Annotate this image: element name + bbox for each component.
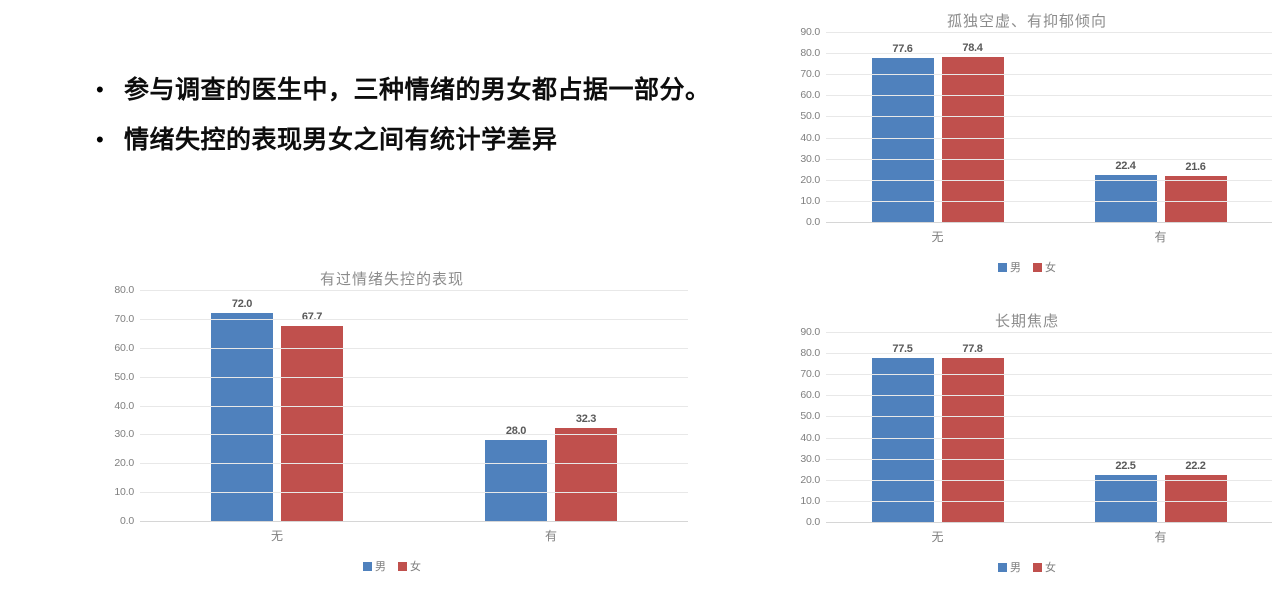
bar-value-label: 21.6 (1185, 161, 1205, 173)
bar-男-无[interactable]: 72.0 (211, 313, 273, 521)
bar-value-label: 22.2 (1185, 460, 1205, 472)
gridline (140, 463, 688, 464)
x-axis-label: 有 (414, 527, 688, 544)
plot-area: 0.010.020.030.040.050.060.070.080.090.0 … (782, 332, 1272, 522)
bar-slot: 22.2 (1165, 332, 1227, 522)
legend-label: 女 (1045, 259, 1056, 275)
legend-swatch-icon (363, 562, 372, 571)
chart-title: 孤独空虚、有抑郁倾向 (782, 10, 1272, 32)
chart-title: 有过情绪失控的表现 (96, 268, 688, 290)
chart-title: 长期焦虑 (782, 310, 1272, 332)
legend-label: 男 (1010, 259, 1021, 275)
y-axis-tick: 90.0 (800, 326, 820, 338)
y-axis: 0.010.020.030.040.050.060.070.080.0 (96, 290, 140, 521)
gridline (826, 32, 1272, 33)
legend: 男女 (96, 558, 688, 574)
gridline (140, 348, 688, 349)
y-axis-tick: 30.0 (800, 453, 820, 465)
x-axis: 无有 (140, 527, 688, 544)
x-axis-label: 无 (826, 528, 1049, 545)
legend-item-男[interactable]: 男 (998, 259, 1021, 275)
gridline (826, 180, 1272, 181)
gridline (826, 116, 1272, 117)
bullet-list: • 参与调查的医生中，三种情绪的男女都占据一部分。 • 情绪失控的表现男女之间有… (96, 68, 716, 168)
bar-value-label: 22.4 (1115, 160, 1135, 172)
y-axis-tick: 80.0 (800, 47, 820, 59)
y-axis-tick: 50.0 (114, 371, 134, 383)
bar-value-label: 72.0 (232, 298, 252, 310)
legend-swatch-icon (1033, 563, 1042, 572)
plot-area: 0.010.020.030.040.050.060.070.080.0 72.0… (96, 290, 688, 521)
bar-slot: 22.4 (1095, 32, 1157, 222)
gridline (140, 406, 688, 407)
y-axis-tick: 70.0 (800, 368, 820, 380)
y-axis-tick: 80.0 (114, 284, 134, 296)
bar-group: 77.678.4 (826, 32, 1049, 222)
gridline (826, 201, 1272, 202)
legend-item-女[interactable]: 女 (1033, 559, 1056, 575)
gridline (826, 480, 1272, 481)
y-axis: 0.010.020.030.040.050.060.070.080.090.0 (782, 332, 826, 522)
y-axis-tick: 0.0 (120, 515, 134, 527)
legend-item-男[interactable]: 男 (363, 558, 386, 574)
legend-swatch-icon (998, 263, 1007, 272)
y-axis: 0.010.020.030.040.050.060.070.080.090.0 (782, 32, 826, 222)
x-axis-label: 有 (1049, 228, 1272, 245)
y-axis-tick: 20.0 (800, 174, 820, 186)
legend-swatch-icon (398, 562, 407, 571)
gridline (826, 459, 1272, 460)
legend-swatch-icon (998, 563, 1007, 572)
y-axis-tick: 0.0 (806, 216, 820, 228)
y-axis-tick: 10.0 (800, 495, 820, 507)
bar-slot: 21.6 (1165, 32, 1227, 222)
bar-value-label: 32.3 (576, 413, 596, 425)
gridline (826, 159, 1272, 160)
x-axis-label: 无 (140, 527, 414, 544)
y-axis-tick: 30.0 (114, 428, 134, 440)
gridline (140, 434, 688, 435)
y-axis-tick: 50.0 (800, 410, 820, 422)
bar-slot: 78.4 (942, 32, 1004, 222)
x-axis: 无有 (826, 228, 1272, 245)
legend-label: 女 (410, 558, 421, 574)
x-axis: 无有 (826, 528, 1272, 545)
legend-label: 男 (1010, 559, 1021, 575)
gridline (826, 353, 1272, 354)
y-axis-tick: 10.0 (114, 486, 134, 498)
y-axis-tick: 20.0 (800, 474, 820, 486)
legend-label: 男 (375, 558, 386, 574)
bar-男-无[interactable]: 77.5 (872, 358, 934, 522)
y-axis-tick: 40.0 (800, 432, 820, 444)
x-axis-label: 无 (826, 228, 1049, 245)
bar-slot: 77.5 (872, 332, 934, 522)
y-axis-tick: 30.0 (800, 153, 820, 165)
legend-label: 女 (1045, 559, 1056, 575)
y-axis-tick: 70.0 (800, 68, 820, 80)
y-axis-tick: 90.0 (800, 26, 820, 38)
bar-value-label: 22.5 (1115, 460, 1135, 472)
gridline (826, 53, 1272, 54)
plot: 77.577.822.522.2 (826, 332, 1272, 522)
legend-item-女[interactable]: 女 (398, 558, 421, 574)
y-axis-tick: 80.0 (800, 347, 820, 359)
bar-女-有[interactable]: 22.2 (1165, 475, 1227, 522)
gridline (826, 416, 1272, 417)
axis-baseline (826, 222, 1272, 223)
bar-groups: 77.577.822.522.2 (826, 332, 1272, 522)
gridline (826, 438, 1272, 439)
gridline (826, 374, 1272, 375)
bar-group: 77.577.8 (826, 332, 1049, 522)
gridline (826, 395, 1272, 396)
bar-女-无[interactable]: 77.8 (942, 358, 1004, 522)
x-axis-label: 有 (1049, 528, 1272, 545)
axis-baseline (140, 521, 688, 522)
axis-baseline (826, 522, 1272, 523)
y-axis-tick: 60.0 (800, 389, 820, 401)
bar-value-label: 78.4 (962, 42, 982, 54)
y-axis-tick: 60.0 (114, 342, 134, 354)
y-axis-tick: 40.0 (114, 400, 134, 412)
bar-group: 22.421.6 (1049, 32, 1272, 222)
bar-女-无[interactable]: 78.4 (942, 57, 1004, 223)
bar-男-有[interactable]: 22.5 (1095, 475, 1157, 523)
bar-slot: 77.8 (942, 332, 1004, 522)
list-item: • 情绪失控的表现男女之间有统计学差异 (96, 118, 716, 162)
bullet-dot-icon: • (96, 68, 124, 112)
gridline (826, 74, 1272, 75)
bar-男-有[interactable]: 28.0 (485, 440, 547, 521)
gridline (140, 492, 688, 493)
y-axis-tick: 10.0 (800, 195, 820, 207)
plot-area: 0.010.020.030.040.050.060.070.080.090.0 … (782, 32, 1272, 222)
list-item: • 参与调查的医生中，三种情绪的男女都占据一部分。 (96, 68, 716, 112)
y-axis-tick: 70.0 (114, 313, 134, 325)
gridline (826, 138, 1272, 139)
bar-slot: 22.5 (1095, 332, 1157, 522)
legend: 男女 (782, 259, 1272, 275)
y-axis-tick: 40.0 (800, 132, 820, 144)
bar-slot: 77.6 (872, 32, 934, 222)
bar-男-无[interactable]: 77.6 (872, 58, 934, 222)
chart-chronic-anxiety: 长期焦虑 0.010.020.030.040.050.060.070.080.0… (782, 310, 1272, 595)
legend: 男女 (782, 559, 1272, 575)
bar-group: 22.522.2 (1049, 332, 1272, 522)
bullet-dot-icon: • (96, 118, 124, 162)
chart-emotion-loss: 有过情绪失控的表现 0.010.020.030.040.050.060.070.… (96, 268, 688, 599)
plot: 72.067.728.032.3 (140, 290, 688, 521)
legend-swatch-icon (1033, 263, 1042, 272)
y-axis-tick: 20.0 (114, 457, 134, 469)
bar-女-有[interactable]: 32.3 (555, 428, 617, 521)
bar-groups: 77.678.422.421.6 (826, 32, 1272, 222)
legend-item-男[interactable]: 男 (998, 559, 1021, 575)
bullet-text: 参与调查的医生中，三种情绪的男女都占据一部分。 (124, 68, 716, 112)
chart-lonely-depressed: 孤独空虚、有抑郁倾向 0.010.020.030.040.050.060.070… (782, 10, 1272, 290)
gridline (140, 377, 688, 378)
gridline (826, 332, 1272, 333)
gridline (140, 290, 688, 291)
gridline (826, 501, 1272, 502)
gridline (140, 319, 688, 320)
plot: 77.678.422.421.6 (826, 32, 1272, 222)
bullet-text: 情绪失控的表现男女之间有统计学差异 (124, 118, 716, 162)
gridline (826, 95, 1272, 96)
y-axis-tick: 50.0 (800, 110, 820, 122)
legend-item-女[interactable]: 女 (1033, 259, 1056, 275)
bar-女-有[interactable]: 21.6 (1165, 176, 1227, 222)
y-axis-tick: 60.0 (800, 89, 820, 101)
bar-男-有[interactable]: 22.4 (1095, 175, 1157, 222)
y-axis-tick: 0.0 (806, 516, 820, 528)
bar-value-label: 67.7 (302, 311, 322, 323)
